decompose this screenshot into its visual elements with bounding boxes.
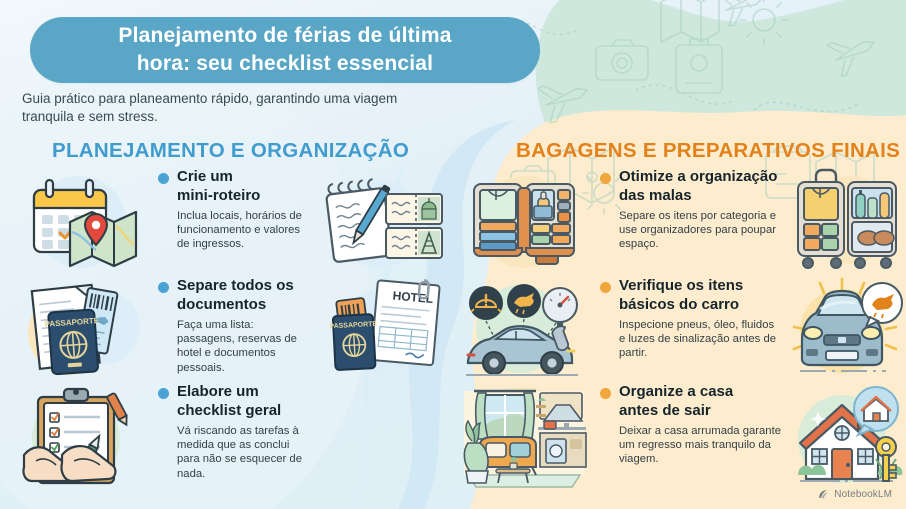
page-subtitle: Guia prático para planeamento rápido, ga… xyxy=(22,90,452,126)
passport-hotel-voucher-illustration: HOTEL xyxy=(316,277,448,382)
list-item-text: Crie um mini-roteiro Inclua locais, horá… xyxy=(158,168,308,252)
list-item: Verifique os itens básicos do carro Insp… xyxy=(460,277,906,386)
list-item-text: Otimize a organização das malas Separe o… xyxy=(600,168,782,252)
title-banner: Planejamento de férias de última hora: s… xyxy=(30,17,540,83)
list-item-title-line2: antes de sair xyxy=(619,402,782,421)
list-item-description: Separe os itens por categoria e use orga… xyxy=(619,209,782,252)
car-dashboard-warning-icons-illustration xyxy=(460,277,588,386)
list-item-description: Deixar a casa arrumada garante um regres… xyxy=(619,424,782,467)
list-item-description: Inspecione pneus, óleo, fluidos e luzes … xyxy=(619,318,782,361)
watermark-label: NotebookLM xyxy=(834,489,892,500)
car-front-oil-check-illustration xyxy=(790,277,906,386)
page-title-line2: hora: seu checklist essencial xyxy=(137,50,433,78)
list-item-text: Separe todos os documentos Faça uma list… xyxy=(158,277,308,375)
list-item-description: Inclua locais, horários de funcionamento… xyxy=(177,209,308,252)
infographic-canvas: Planejamento de férias de última hora: s… xyxy=(0,0,906,509)
list-item: Organize a casa antes de sair Deixar a c… xyxy=(460,383,906,498)
upright-suitcase-illustration xyxy=(790,168,906,277)
list-item-title-line1: Otimize a organização xyxy=(619,168,782,187)
bullet-dot-icon xyxy=(158,388,169,399)
bullet-dot-icon xyxy=(158,173,169,184)
list-item: PASSAPORTE Separe todos os documentos Fa… xyxy=(18,277,448,382)
list-item-title-line1: Verifique os itens xyxy=(619,277,782,296)
bullet-dot-icon xyxy=(600,282,611,293)
calendar-map-illustration xyxy=(18,168,146,277)
list-item-title-line1: Separe todos os xyxy=(177,277,308,296)
list-item-title-line1: Crie um xyxy=(177,168,308,187)
left-column-heading: PLANEJAMENTO E ORGANIZAÇÃO xyxy=(52,139,409,163)
list-item: Crie um mini-roteiro Inclua locais, horá… xyxy=(18,168,448,277)
living-room-kitchen-illustration xyxy=(460,383,588,498)
list-item-description: Faça uma lista: passagens, reservas de h… xyxy=(177,318,308,375)
notebooklm-watermark: NotebookLM xyxy=(817,488,892,501)
notepad-tickets-illustration xyxy=(316,168,448,277)
house-key-illustration xyxy=(790,383,906,498)
clipboard-checklist-hands-illustration xyxy=(18,383,146,502)
list-item-text: Elabore um checklist geral Vá riscando a… xyxy=(158,383,308,481)
right-column-heading: BAGAGENS E PREPARATIVOS FINAIS xyxy=(516,139,900,163)
list-item-text: Organize a casa antes de sair Deixar a c… xyxy=(600,383,782,467)
list-item-title-line2: documentos xyxy=(177,296,308,315)
list-item-description: Vá riscando as tarefas à medida que as c… xyxy=(177,424,308,481)
page-title-line1: Planejamento de férias de última xyxy=(118,22,451,50)
open-suitcase-packed-illustration xyxy=(460,168,588,277)
passport-boarding-pass-illustration: PASSAPORTE xyxy=(18,277,146,382)
list-item-title-line2: mini-roteiro xyxy=(177,187,308,206)
list-item-title-line1: Organize a casa xyxy=(619,383,782,402)
list-item-text: Verifique os itens básicos do carro Insp… xyxy=(600,277,782,361)
notebooklm-logo-icon xyxy=(817,488,830,501)
list-item: Otimize a organização das malas Separe o… xyxy=(460,168,906,277)
list-item-title-line2: das malas xyxy=(619,187,782,206)
list-item-title-line2: básicos do carro xyxy=(619,296,782,315)
list-item-title-line1: Elabore um xyxy=(177,383,308,402)
list-item-title-line2: checklist geral xyxy=(177,402,308,421)
bullet-dot-icon xyxy=(600,173,611,184)
bullet-dot-icon xyxy=(158,282,169,293)
list-item: Elabore um checklist geral Vá riscando a… xyxy=(18,383,308,502)
bullet-dot-icon xyxy=(600,388,611,399)
